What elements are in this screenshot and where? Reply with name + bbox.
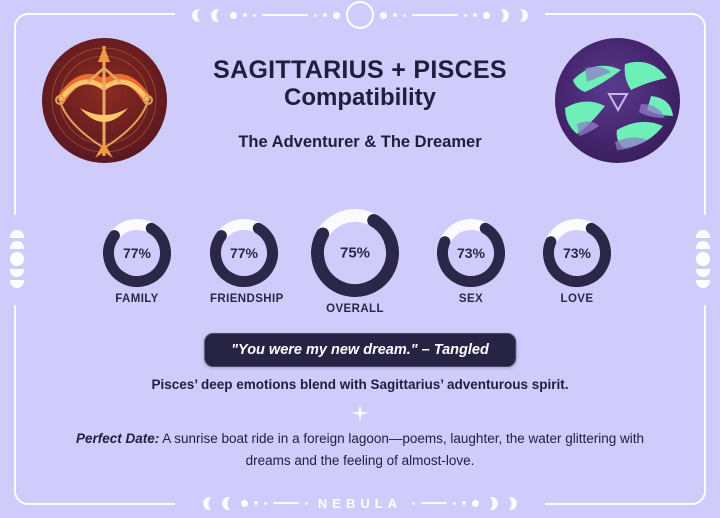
gauge-label: FRIENDSHIP [210, 293, 278, 305]
sparkle-icon [351, 404, 369, 422]
dot-icon [264, 502, 267, 505]
metric-friendship: 77%FRIENDSHIP [210, 219, 278, 305]
donut-gauge: 75% [311, 209, 399, 297]
gauge-value: 73% [543, 245, 611, 261]
zodiac-circle-sagittarius [42, 38, 167, 163]
compatibility-metrics: 77%FAMILY77%FRIENDSHIP75%OVERALL73%SEX73… [0, 205, 720, 315]
dot-icon [473, 13, 477, 17]
crescent-moon-icon [192, 9, 205, 22]
crescent-moon-icon [496, 9, 509, 22]
header: SAGITTARIUS + PISCES Compatibility The A… [180, 56, 540, 152]
brand-wordmark: NEBULA [314, 496, 406, 511]
gauge-label: FAMILY [103, 293, 171, 305]
page-title: SAGITTARIUS + PISCES [180, 56, 540, 84]
dot-icon [380, 12, 387, 19]
crescent-moon-icon [203, 497, 216, 510]
quote-banner: "You were my new dream." – Tangled [204, 333, 516, 367]
metric-family: 77%FAMILY [103, 219, 171, 305]
crescent-moon-icon [211, 9, 224, 22]
donut-gauge: 77% [210, 219, 278, 287]
moon-phase-ornament-bottom: NEBULA [0, 490, 720, 516]
metric-love: 73%LOVE [543, 219, 611, 305]
moon-phase-ornament-top [0, 2, 720, 28]
dot-icon [314, 14, 317, 17]
dot-icon [254, 501, 258, 505]
dot-icon [305, 502, 308, 505]
dot-icon [453, 502, 456, 505]
gauge-value: 77% [210, 245, 278, 261]
dot-icon [243, 13, 247, 17]
dot-icon [241, 500, 248, 507]
gauge-label: LOVE [543, 293, 611, 305]
dash-icon [412, 14, 458, 16]
full-moon-outline-icon [346, 1, 374, 29]
dot-icon [464, 14, 467, 17]
gauge-value: 77% [103, 245, 171, 261]
perfect-date-text: A sunrise boat ride in a foreign lagoon—… [159, 431, 644, 468]
metric-overall: 75%OVERALL [311, 209, 399, 315]
sagittarius-bow-arrow-icon [42, 38, 167, 163]
crescent-moon-icon [485, 497, 498, 510]
archetype-subtitle: The Adventurer & The Dreamer [180, 133, 540, 152]
gauge-label: SEX [437, 293, 505, 305]
dot-icon [333, 12, 340, 19]
page-subtitle-compatibility: Compatibility [180, 84, 540, 113]
dot-icon [253, 14, 256, 17]
perfect-date: Perfect Date: A sunrise boat ride in a f… [72, 428, 648, 472]
dot-icon [403, 14, 406, 17]
dot-icon [323, 13, 327, 17]
donut-gauge: 73% [437, 219, 505, 287]
infographic-card: SAGITTARIUS + PISCES Compatibility The A… [0, 0, 720, 518]
metric-sex: 73%SEX [437, 219, 505, 305]
dot-icon [230, 12, 237, 19]
donut-gauge: 73% [543, 219, 611, 287]
dot-icon [412, 502, 415, 505]
gauge-label: OVERALL [311, 303, 399, 315]
compatibility-blurb: Pisces’ deep emotions blend with Sagitta… [60, 377, 660, 392]
pisces-fish-icon [555, 38, 680, 163]
gauge-value: 75% [311, 245, 399, 262]
dot-icon [472, 500, 479, 507]
dot-icon [393, 13, 397, 17]
zodiac-circle-pisces [555, 38, 680, 163]
crescent-moon-icon [515, 9, 528, 22]
dash-icon [421, 502, 447, 504]
dash-icon [273, 502, 299, 504]
gauge-value: 73% [437, 245, 505, 261]
crescent-moon-icon [504, 497, 517, 510]
dash-icon [262, 14, 308, 16]
dot-icon [483, 12, 490, 19]
crescent-moon-icon [222, 497, 235, 510]
perfect-date-label: Perfect Date: [76, 431, 159, 446]
donut-gauge: 77% [103, 219, 171, 287]
dot-icon [462, 501, 466, 505]
